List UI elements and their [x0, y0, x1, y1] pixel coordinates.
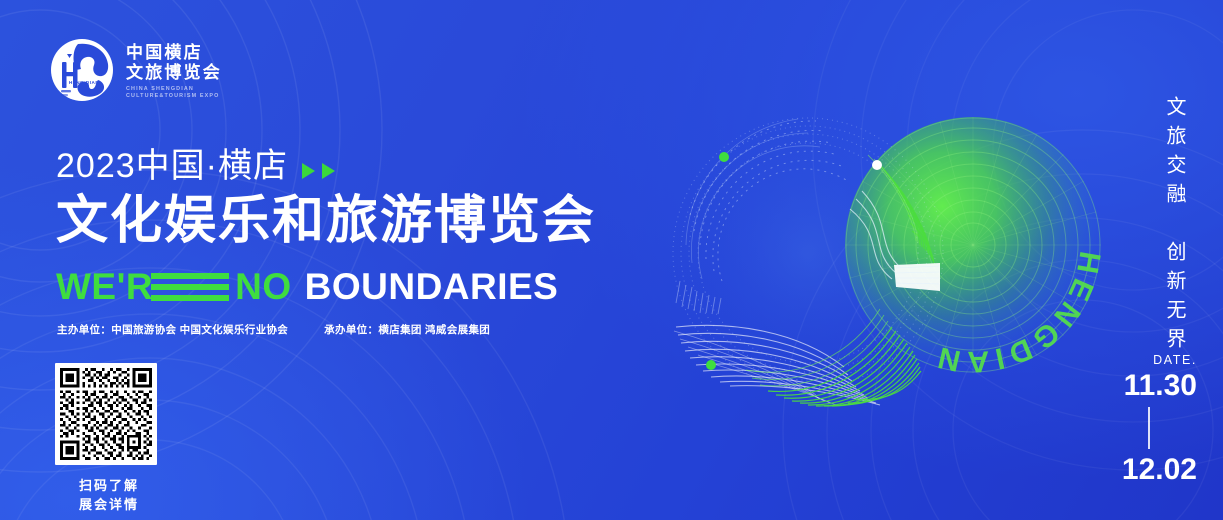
host-names: 中国旅游协会 中国文化娱乐行业协会	[111, 322, 288, 337]
date-label: DATE.	[1085, 352, 1197, 368]
hengdian-expo-circular-logo-icon: HENG DIAN	[48, 36, 116, 104]
logo-english-line-1: CHINA SHENGDIAN	[126, 86, 222, 94]
play-arrow-icon	[322, 163, 335, 179]
qr-caption-line-2: 展会详情	[55, 495, 163, 514]
node-dot	[719, 152, 729, 162]
date-divider	[1148, 407, 1150, 449]
page-title: 文化娱乐和旅游博览会	[56, 190, 596, 252]
node-dot	[872, 160, 882, 170]
event-kicker: 2023中国·横店	[56, 146, 288, 186]
qr-code-block[interactable]: 扫码了解 展会详情	[55, 363, 163, 514]
left-chord-circle	[672, 117, 944, 406]
green-arrow-group	[302, 154, 335, 179]
node-dot	[706, 360, 716, 370]
curved-hengdian-text: HENGDIAN	[930, 249, 1106, 378]
english-tagline: WE'R NO BOUNDARIES	[56, 266, 596, 308]
qr-code-icon[interactable]	[60, 368, 152, 460]
date-start: 11.30	[1085, 368, 1197, 404]
date-block: DATE. 11.30 12.02	[1085, 352, 1197, 488]
logo-text-block: 中国横店 文旅博览会 CHINA SHENGDIAN CULTURE&TOURI…	[126, 40, 222, 101]
central-network-graphic: HENGDIAN	[648, 95, 1118, 425]
qr-caption: 扫码了解 展会详情	[55, 476, 163, 514]
logo-english-line-2: CULTURE&TOURISM EXPO	[126, 93, 222, 101]
organizers-line: 主办单位： 中国旅游协会 中国文化娱乐行业协会 承办单位： 横店集团 鸿威会展集…	[57, 322, 490, 337]
organizer-label: 承办单位：	[324, 322, 378, 337]
kicker-row: 2023中国·横店	[56, 146, 596, 186]
logo-chinese-line-1: 中国横店	[126, 43, 222, 63]
svg-text:HENG DIAN: HENG DIAN	[69, 80, 99, 85]
network-visualization-icon: HENGDIAN	[648, 95, 1118, 425]
vertical-slogan: 文旅交融 创新无界	[1159, 96, 1189, 311]
vertical-slogan-line-1: 文旅交融	[1163, 96, 1185, 212]
right-burst-circle: HENGDIAN	[841, 113, 1106, 378]
headline-block: 2023中国·横店 文化娱乐和旅游博览会 WE'R NO BOUNDARIES	[56, 146, 596, 308]
play-arrow-icon	[302, 163, 315, 179]
tagline-part-1: WE'R	[56, 266, 153, 308]
vertical-slogan-line-2: 创新无界	[1163, 241, 1185, 357]
white-wedge	[894, 263, 940, 291]
logo-chinese-line-2: 文旅博览会	[126, 63, 222, 83]
tagline-part-2: NO	[235, 266, 292, 308]
tagline-bars-decoration	[151, 273, 229, 301]
date-end: 12.02	[1085, 452, 1197, 488]
organizer-names: 横店集团 鸿威会展集团	[378, 322, 490, 337]
brand-logo-lockup[interactable]: HENG DIAN 中国横店 文旅博览会 CHINA SHENGDIAN CUL…	[48, 36, 222, 104]
qr-caption-line-1: 扫码了解	[55, 476, 163, 495]
tagline-part-3: BOUNDARIES	[305, 266, 559, 308]
event-banner: HENG DIAN 中国横店 文旅博览会 CHINA SHENGDIAN CUL…	[0, 0, 1223, 520]
host-label: 主办单位：	[57, 322, 111, 337]
qr-code-frame[interactable]	[55, 363, 157, 465]
